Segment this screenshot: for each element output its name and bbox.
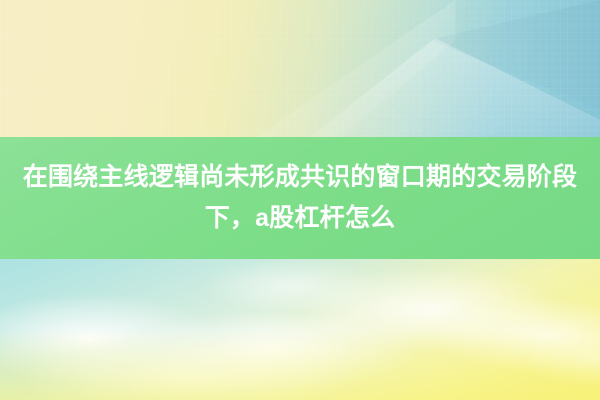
- title-line-1: 在围绕主线逻辑尚未形成共识的窗口期的交易阶段: [23, 157, 577, 198]
- sky-haze-overlay: [0, 330, 600, 400]
- sky-image-band: [0, 259, 600, 400]
- title-banner: 在围绕主线逻辑尚未形成共识的窗口期的交易阶段 下，a股杠杆怎么: [0, 137, 600, 259]
- cloud-shape: [200, 259, 380, 313]
- title-line-2: 下，a股杠杆怎么: [205, 198, 396, 239]
- top-decorative-band: [0, 0, 600, 138]
- poster-canvas: 在围绕主线逻辑尚未形成共识的窗口期的交易阶段 下，a股杠杆怎么: [0, 0, 600, 400]
